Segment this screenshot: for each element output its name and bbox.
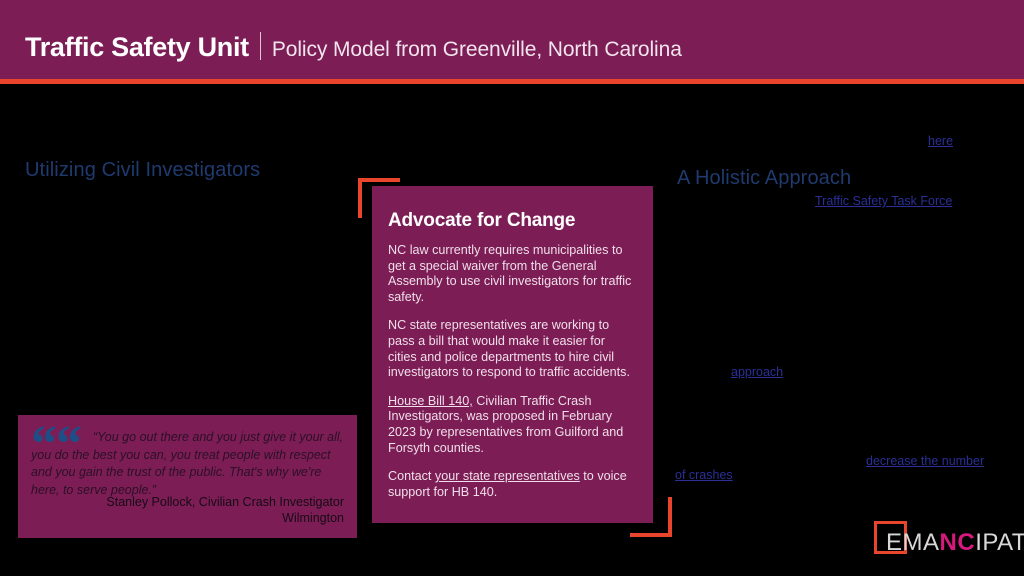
page-subtitle: Policy Model from Greenville, North Caro… xyxy=(272,38,682,62)
link-here[interactable]: here xyxy=(928,134,953,148)
quote-attribution-name: Stanley Pollock, Civilian Crash Investig… xyxy=(44,494,344,510)
logo-part-1: EMA xyxy=(886,529,940,556)
house-bill-140-link[interactable]: House Bill 140, xyxy=(388,394,473,408)
state-representatives-link[interactable]: your state representatives xyxy=(435,469,580,483)
logo-part-3: IPATE xyxy=(975,529,1024,556)
advocate-for-change-card: Advocate for Change NC law currently req… xyxy=(372,186,653,523)
header-divider xyxy=(260,32,261,60)
section-heading-civil-investigators: Utilizing Civil Investigators xyxy=(25,159,260,182)
header-title-group: Traffic Safety Unit Policy Model from Gr… xyxy=(25,28,682,63)
logo-part-nc: NC xyxy=(940,529,976,556)
quote-card: ““ “You go out there and you just give i… xyxy=(18,415,357,538)
card-paragraph-1: NC law currently requires municipalities… xyxy=(388,243,637,305)
link-approach[interactable]: approach xyxy=(731,365,783,379)
quote-attribution-city: Wilmington xyxy=(44,510,344,526)
link-traffic-safety-task-force[interactable]: Traffic Safety Task Force xyxy=(815,194,952,208)
logo-wordmark: EMANCIPATE xyxy=(886,529,1024,557)
section-heading-holistic-approach: A Holistic Approach xyxy=(677,167,851,190)
link-decrease-the-number[interactable]: decrease the number xyxy=(866,454,984,468)
card-paragraph-4-pre: Contact xyxy=(388,469,435,483)
header-accent-rule xyxy=(0,79,1024,84)
link-of-crashes[interactable]: of crashes xyxy=(675,468,733,482)
card-title: Advocate for Change xyxy=(388,210,637,232)
quote-text: “You go out there and you just give it y… xyxy=(31,429,347,499)
quote-attribution: Stanley Pollock, Civilian Crash Investig… xyxy=(44,494,344,526)
slide-header: Traffic Safety Unit Policy Model from Gr… xyxy=(0,0,1024,79)
emancipate-logo: EMANCIPATE xyxy=(874,521,1024,555)
card-paragraph-3: House Bill 140, Civilian Traffic Crash I… xyxy=(388,394,637,456)
card-paragraph-2: NC state representatives are working to … xyxy=(388,318,637,380)
card-paragraph-4: Contact your state representatives to vo… xyxy=(388,469,637,500)
page-title: Traffic Safety Unit xyxy=(25,32,249,63)
slide-canvas: Traffic Safety Unit Policy Model from Gr… xyxy=(0,0,1024,576)
